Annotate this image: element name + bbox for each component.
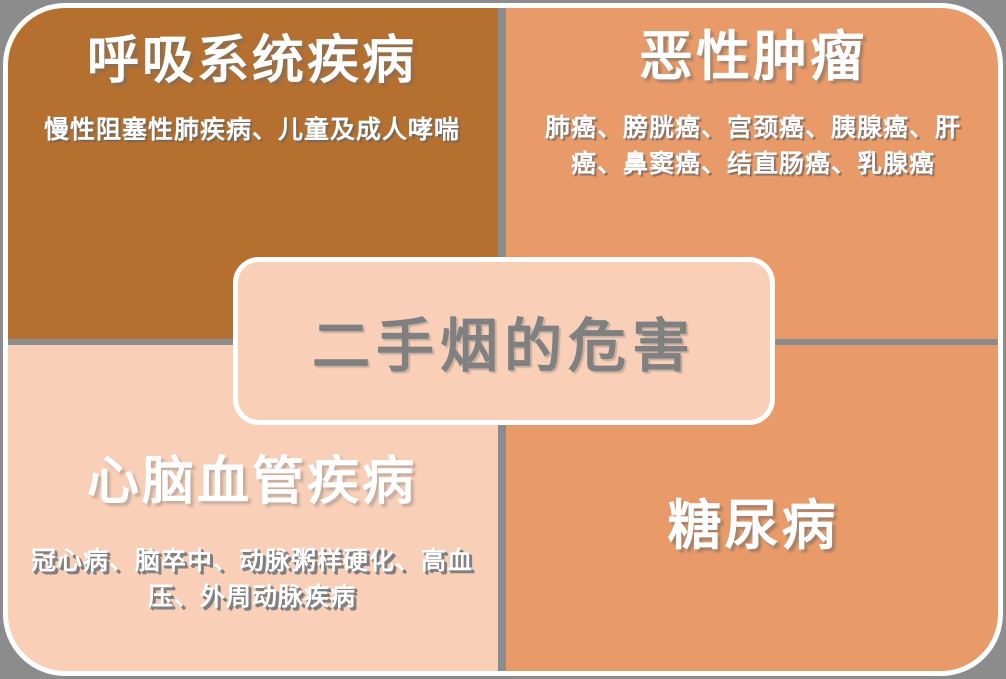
secondhand-smoke-infographic: 呼吸系统疾病 慢性阻塞性肺疾病、儿童及成人哮喘 恶性肿瘤 肺癌、膀胱癌、宫颈癌、… bbox=[0, 0, 1006, 679]
quadrant-malignant-tumor-title: 恶性肿瘤 bbox=[639, 26, 867, 88]
center-badge-label: 二手烟的危害 bbox=[312, 299, 696, 383]
quadrant-cardio-cerebrovascular-subtitle: 冠心病、脑卒中、动脉粥样硬化、高血压、外周动脉疾病 bbox=[21, 543, 483, 616]
quadrant-cardio-cerebrovascular-title: 心脑血管疾病 bbox=[87, 453, 417, 513]
quadrant-respiratory-subtitle: 慢性阻塞性肺疾病、儿童及成人哮喘 bbox=[40, 112, 463, 148]
quadrant-malignant-tumor-subtitle: 肺癌、膀胱癌、宫颈癌、胰腺癌、肝癌、鼻窦癌、结直肠癌、乳腺癌 bbox=[531, 110, 976, 183]
quadrant-diabetes-title: 糖尿病 bbox=[668, 495, 839, 557]
center-badge: 二手烟的危害 bbox=[233, 257, 775, 425]
quadrant-respiratory-title: 呼吸系统疾病 bbox=[87, 32, 417, 92]
